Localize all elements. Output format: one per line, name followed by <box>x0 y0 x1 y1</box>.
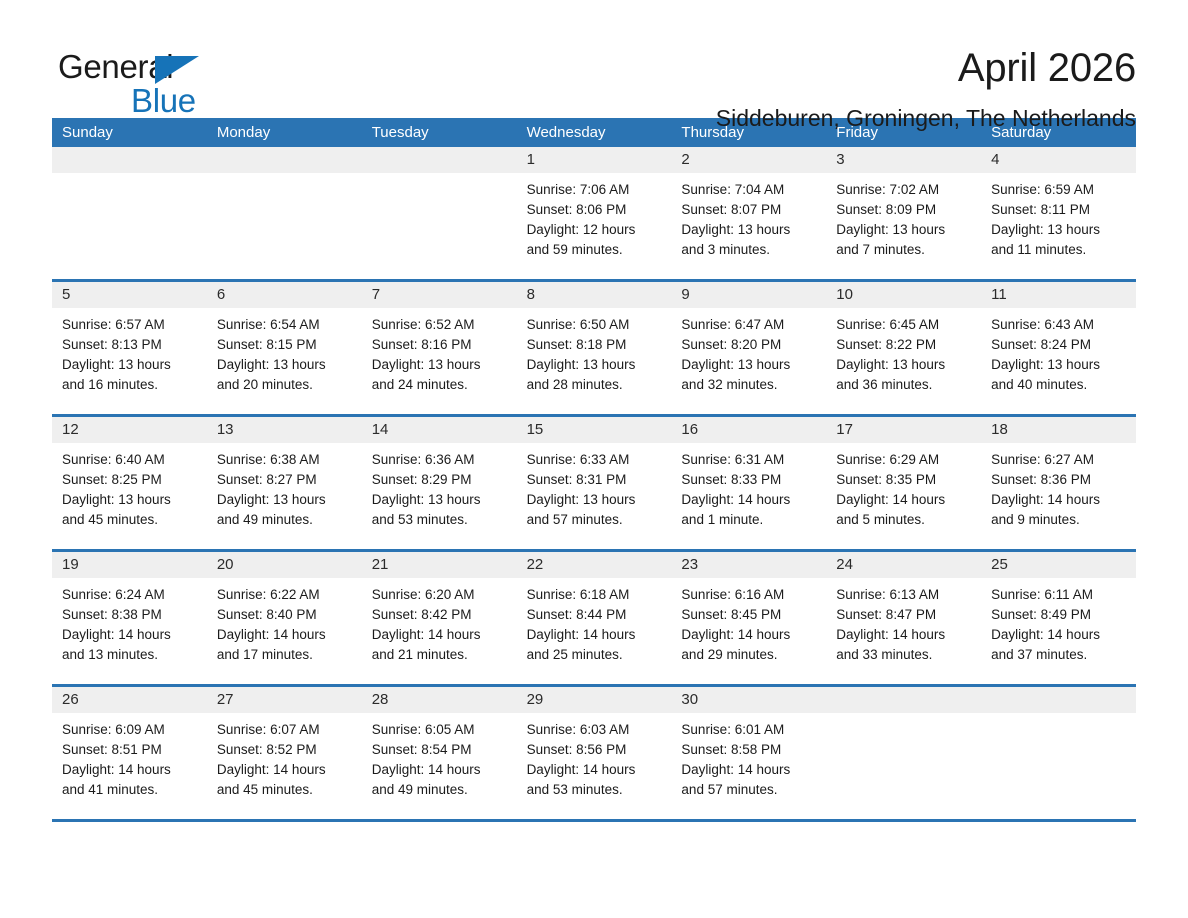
daylight-text-line1: Daylight: 14 hours <box>681 760 818 780</box>
day-cell[interactable]: 13Sunrise: 6:38 AMSunset: 8:27 PMDayligh… <box>207 417 362 549</box>
sunrise-text: Sunrise: 7:04 AM <box>681 180 818 200</box>
sunset-text: Sunset: 8:56 PM <box>527 740 664 760</box>
day-cell[interactable]: 15Sunrise: 6:33 AMSunset: 8:31 PMDayligh… <box>517 417 672 549</box>
sunrise-text: Sunrise: 6:27 AM <box>991 450 1128 470</box>
sunset-text: Sunset: 8:38 PM <box>62 605 199 625</box>
daylight-text-line1: Daylight: 13 hours <box>217 490 354 510</box>
daylight-text-line1: Daylight: 13 hours <box>991 220 1128 240</box>
daylight-text-line2: and 25 minutes. <box>527 645 664 665</box>
daylight-text-line1: Daylight: 13 hours <box>372 355 509 375</box>
daylight-text-line2: and 49 minutes. <box>217 510 354 530</box>
calendar-page: General Blue April 2026 Siddeburen, Gron… <box>0 0 1188 918</box>
day-number: 25 <box>981 552 1136 578</box>
daylight-text-line2: and 7 minutes. <box>836 240 973 260</box>
daylight-text-line2: and 37 minutes. <box>991 645 1128 665</box>
daylight-text-line1: Daylight: 14 hours <box>62 625 199 645</box>
day-number: 18 <box>981 417 1136 443</box>
daylight-text-line2: and 53 minutes. <box>527 780 664 800</box>
day-cell-empty <box>207 147 362 279</box>
sunrise-text: Sunrise: 6:50 AM <box>527 315 664 335</box>
sunrise-text: Sunrise: 6:01 AM <box>681 720 818 740</box>
day-details: Sunrise: 6:50 AMSunset: 8:18 PMDaylight:… <box>517 308 672 395</box>
daylight-text-line2: and 49 minutes. <box>372 780 509 800</box>
daylight-text-line1: Daylight: 12 hours <box>527 220 664 240</box>
calendar-week-row: 1Sunrise: 7:06 AMSunset: 8:06 PMDaylight… <box>52 147 1136 279</box>
daylight-text-line1: Daylight: 13 hours <box>372 490 509 510</box>
daylight-text-line2: and 57 minutes. <box>681 780 818 800</box>
sunrise-text: Sunrise: 6:22 AM <box>217 585 354 605</box>
day-number: 12 <box>52 417 207 443</box>
sunrise-text: Sunrise: 6:20 AM <box>372 585 509 605</box>
sunset-text: Sunset: 8:29 PM <box>372 470 509 490</box>
day-details: Sunrise: 6:57 AMSunset: 8:13 PMDaylight:… <box>52 308 207 395</box>
sunset-text: Sunset: 8:20 PM <box>681 335 818 355</box>
day-details: Sunrise: 6:36 AMSunset: 8:29 PMDaylight:… <box>362 443 517 530</box>
triangle-icon <box>155 56 199 84</box>
day-number: 11 <box>981 282 1136 308</box>
daylight-text-line1: Daylight: 14 hours <box>527 760 664 780</box>
day-number: 21 <box>362 552 517 578</box>
sunrise-text: Sunrise: 6:03 AM <box>527 720 664 740</box>
day-cell-empty <box>826 687 981 819</box>
sunset-text: Sunset: 8:16 PM <box>372 335 509 355</box>
day-number <box>981 687 1136 713</box>
day-details: Sunrise: 6:52 AMSunset: 8:16 PMDaylight:… <box>362 308 517 395</box>
day-number: 3 <box>826 147 981 173</box>
daylight-text-line1: Daylight: 14 hours <box>527 625 664 645</box>
sunset-text: Sunset: 8:49 PM <box>991 605 1128 625</box>
logo-line-one: General <box>58 50 258 86</box>
daylight-text-line1: Daylight: 14 hours <box>991 625 1128 645</box>
day-number: 28 <box>362 687 517 713</box>
calendar-week-row: 12Sunrise: 6:40 AMSunset: 8:25 PMDayligh… <box>52 414 1136 549</box>
day-number <box>52 147 207 173</box>
day-cell-empty <box>52 147 207 279</box>
sunset-text: Sunset: 8:25 PM <box>62 470 199 490</box>
day-cell-empty <box>362 147 517 279</box>
sunset-text: Sunset: 8:44 PM <box>527 605 664 625</box>
sunset-text: Sunset: 8:47 PM <box>836 605 973 625</box>
day-cell[interactable]: 12Sunrise: 6:40 AMSunset: 8:25 PMDayligh… <box>52 417 207 549</box>
day-number <box>207 147 362 173</box>
sunrise-text: Sunrise: 6:47 AM <box>681 315 818 335</box>
sunrise-text: Sunrise: 6:52 AM <box>372 315 509 335</box>
daylight-text-line1: Daylight: 14 hours <box>372 760 509 780</box>
daylight-text-line1: Daylight: 13 hours <box>62 490 199 510</box>
sunset-text: Sunset: 8:35 PM <box>836 470 973 490</box>
day-cell[interactable]: 9Sunrise: 6:47 AMSunset: 8:20 PMDaylight… <box>671 282 826 414</box>
sunrise-text: Sunrise: 6:57 AM <box>62 315 199 335</box>
sunset-text: Sunset: 8:33 PM <box>681 470 818 490</box>
sunset-text: Sunset: 8:15 PM <box>217 335 354 355</box>
day-cell[interactable]: 16Sunrise: 6:31 AMSunset: 8:33 PMDayligh… <box>671 417 826 549</box>
day-details: Sunrise: 6:45 AMSunset: 8:22 PMDaylight:… <box>826 308 981 395</box>
calendar-grid: SundayMondayTuesdayWednesdayThursdayFrid… <box>52 118 1136 819</box>
sunrise-text: Sunrise: 6:29 AM <box>836 450 973 470</box>
sunrise-text: Sunrise: 6:16 AM <box>681 585 818 605</box>
day-details: Sunrise: 6:33 AMSunset: 8:31 PMDaylight:… <box>517 443 672 530</box>
daylight-text-line1: Daylight: 14 hours <box>217 760 354 780</box>
day-details: Sunrise: 6:54 AMSunset: 8:15 PMDaylight:… <box>207 308 362 395</box>
day-details: Sunrise: 6:20 AMSunset: 8:42 PMDaylight:… <box>362 578 517 665</box>
sunrise-text: Sunrise: 7:02 AM <box>836 180 973 200</box>
day-number: 22 <box>517 552 672 578</box>
daylight-text-line2: and 53 minutes. <box>372 510 509 530</box>
sunrise-text: Sunrise: 6:33 AM <box>527 450 664 470</box>
day-number: 30 <box>671 687 826 713</box>
sunrise-text: Sunrise: 6:45 AM <box>836 315 973 335</box>
daylight-text-line1: Daylight: 13 hours <box>62 355 199 375</box>
daylight-text-line2: and 13 minutes. <box>62 645 199 665</box>
daylight-text-line1: Daylight: 13 hours <box>991 355 1128 375</box>
sunrise-text: Sunrise: 6:07 AM <box>217 720 354 740</box>
sunset-text: Sunset: 8:07 PM <box>681 200 818 220</box>
sunset-text: Sunset: 8:27 PM <box>217 470 354 490</box>
calendar-week-row: 26Sunrise: 6:09 AMSunset: 8:51 PMDayligh… <box>52 684 1136 819</box>
daylight-text-line1: Daylight: 13 hours <box>681 355 818 375</box>
page-subtitle: Siddeburen, Groningen, The Netherlands <box>716 104 1136 132</box>
daylight-text-line2: and 33 minutes. <box>836 645 973 665</box>
daylight-text-line2: and 36 minutes. <box>836 375 973 395</box>
day-number: 4 <box>981 147 1136 173</box>
day-details: Sunrise: 6:29 AMSunset: 8:35 PMDaylight:… <box>826 443 981 530</box>
day-number: 15 <box>517 417 672 443</box>
sunset-text: Sunset: 8:24 PM <box>991 335 1128 355</box>
day-cell[interactable]: 28Sunrise: 6:05 AMSunset: 8:54 PMDayligh… <box>362 687 517 819</box>
day-cell[interactable]: 24Sunrise: 6:13 AMSunset: 8:47 PMDayligh… <box>826 552 981 684</box>
day-cell[interactable]: 25Sunrise: 6:11 AMSunset: 8:49 PMDayligh… <box>981 552 1136 684</box>
daylight-text-line2: and 9 minutes. <box>991 510 1128 530</box>
weekday-header-monday: Monday <box>207 118 362 147</box>
daylight-text-line2: and 45 minutes. <box>217 780 354 800</box>
weekday-header-sunday: Sunday <box>52 118 207 147</box>
daylight-text-line1: Daylight: 14 hours <box>836 490 973 510</box>
day-cell[interactable]: 27Sunrise: 6:07 AMSunset: 8:52 PMDayligh… <box>207 687 362 819</box>
daylight-text-line1: Daylight: 13 hours <box>527 355 664 375</box>
day-cell[interactable]: 26Sunrise: 6:09 AMSunset: 8:51 PMDayligh… <box>52 687 207 819</box>
daylight-text-line1: Daylight: 14 hours <box>62 760 199 780</box>
sunset-text: Sunset: 8:31 PM <box>527 470 664 490</box>
day-number: 26 <box>52 687 207 713</box>
day-cell[interactable]: 29Sunrise: 6:03 AMSunset: 8:56 PMDayligh… <box>517 687 672 819</box>
day-details: Sunrise: 6:22 AMSunset: 8:40 PMDaylight:… <box>207 578 362 665</box>
calendar-week-row: 19Sunrise: 6:24 AMSunset: 8:38 PMDayligh… <box>52 549 1136 684</box>
sunrise-text: Sunrise: 6:31 AM <box>681 450 818 470</box>
daylight-text-line2: and 20 minutes. <box>217 375 354 395</box>
sunset-text: Sunset: 8:58 PM <box>681 740 818 760</box>
day-details: Sunrise: 6:24 AMSunset: 8:38 PMDaylight:… <box>52 578 207 665</box>
daylight-text-line2: and 21 minutes. <box>372 645 509 665</box>
day-cell[interactable]: 23Sunrise: 6:16 AMSunset: 8:45 PMDayligh… <box>671 552 826 684</box>
sunrise-text: Sunrise: 6:59 AM <box>991 180 1128 200</box>
daylight-text-line1: Daylight: 13 hours <box>681 220 818 240</box>
daylight-text-line1: Daylight: 13 hours <box>527 490 664 510</box>
sunrise-text: Sunrise: 7:06 AM <box>527 180 664 200</box>
sunset-text: Sunset: 8:13 PM <box>62 335 199 355</box>
day-number: 20 <box>207 552 362 578</box>
sunset-text: Sunset: 8:18 PM <box>527 335 664 355</box>
daylight-text-line1: Daylight: 13 hours <box>217 355 354 375</box>
day-cell[interactable]: 3Sunrise: 7:02 AMSunset: 8:09 PMDaylight… <box>826 147 981 279</box>
day-details: Sunrise: 7:04 AMSunset: 8:07 PMDaylight:… <box>671 173 826 260</box>
daylight-text-line1: Daylight: 14 hours <box>372 625 509 645</box>
day-cell[interactable]: 22Sunrise: 6:18 AMSunset: 8:44 PMDayligh… <box>517 552 672 684</box>
sunrise-text: Sunrise: 6:24 AM <box>62 585 199 605</box>
calendar-week-row: 5Sunrise: 6:57 AMSunset: 8:13 PMDaylight… <box>52 279 1136 414</box>
day-details: Sunrise: 6:31 AMSunset: 8:33 PMDaylight:… <box>671 443 826 530</box>
day-number: 19 <box>52 552 207 578</box>
day-details: Sunrise: 7:06 AMSunset: 8:06 PMDaylight:… <box>517 173 672 260</box>
daylight-text-line1: Daylight: 14 hours <box>217 625 354 645</box>
daylight-text-line2: and 17 minutes. <box>217 645 354 665</box>
day-cell[interactable]: 14Sunrise: 6:36 AMSunset: 8:29 PMDayligh… <box>362 417 517 549</box>
sunset-text: Sunset: 8:45 PM <box>681 605 818 625</box>
daylight-text-line1: Daylight: 14 hours <box>991 490 1128 510</box>
day-cell[interactable]: 8Sunrise: 6:50 AMSunset: 8:18 PMDaylight… <box>517 282 672 414</box>
daylight-text-line2: and 1 minute. <box>681 510 818 530</box>
sunset-text: Sunset: 8:52 PM <box>217 740 354 760</box>
day-details: Sunrise: 6:40 AMSunset: 8:25 PMDaylight:… <box>52 443 207 530</box>
day-details: Sunrise: 6:09 AMSunset: 8:51 PMDaylight:… <box>52 713 207 800</box>
day-number: 13 <box>207 417 362 443</box>
daylight-text-line1: Daylight: 14 hours <box>681 625 818 645</box>
day-number: 9 <box>671 282 826 308</box>
daylight-text-line2: and 57 minutes. <box>527 510 664 530</box>
day-number: 17 <box>826 417 981 443</box>
daylight-text-line2: and 28 minutes. <box>527 375 664 395</box>
day-details: Sunrise: 6:47 AMSunset: 8:20 PMDaylight:… <box>671 308 826 395</box>
daylight-text-line2: and 29 minutes. <box>681 645 818 665</box>
day-cell-empty <box>981 687 1136 819</box>
sunset-text: Sunset: 8:54 PM <box>372 740 509 760</box>
day-number <box>362 147 517 173</box>
sunset-text: Sunset: 8:09 PM <box>836 200 973 220</box>
daylight-text-line2: and 41 minutes. <box>62 780 199 800</box>
day-cell[interactable]: 7Sunrise: 6:52 AMSunset: 8:16 PMDaylight… <box>362 282 517 414</box>
calendar-weeks: 1Sunrise: 7:06 AMSunset: 8:06 PMDaylight… <box>52 147 1136 819</box>
day-cell[interactable]: 4Sunrise: 6:59 AMSunset: 8:11 PMDaylight… <box>981 147 1136 279</box>
day-number: 27 <box>207 687 362 713</box>
daylight-text-line2: and 40 minutes. <box>991 375 1128 395</box>
sunset-text: Sunset: 8:06 PM <box>527 200 664 220</box>
daylight-text-line2: and 11 minutes. <box>991 240 1128 260</box>
day-details: Sunrise: 7:02 AMSunset: 8:09 PMDaylight:… <box>826 173 981 260</box>
sunrise-text: Sunrise: 6:54 AM <box>217 315 354 335</box>
day-details: Sunrise: 6:38 AMSunset: 8:27 PMDaylight:… <box>207 443 362 530</box>
sunrise-text: Sunrise: 6:40 AM <box>62 450 199 470</box>
sunset-text: Sunset: 8:40 PM <box>217 605 354 625</box>
day-number: 7 <box>362 282 517 308</box>
day-cell[interactable]: 6Sunrise: 6:54 AMSunset: 8:15 PMDaylight… <box>207 282 362 414</box>
sunset-text: Sunset: 8:11 PM <box>991 200 1128 220</box>
day-cell[interactable]: 2Sunrise: 7:04 AMSunset: 8:07 PMDaylight… <box>671 147 826 279</box>
day-cell[interactable]: 10Sunrise: 6:45 AMSunset: 8:22 PMDayligh… <box>826 282 981 414</box>
day-details: Sunrise: 6:03 AMSunset: 8:56 PMDaylight:… <box>517 713 672 800</box>
day-details: Sunrise: 6:43 AMSunset: 8:24 PMDaylight:… <box>981 308 1136 395</box>
calendar-bottom-rule <box>52 819 1136 822</box>
daylight-text-line2: and 3 minutes. <box>681 240 818 260</box>
logo-text-blue: Blue <box>131 82 196 119</box>
daylight-text-line2: and 24 minutes. <box>372 375 509 395</box>
daylight-text-line1: Daylight: 14 hours <box>681 490 818 510</box>
sunrise-text: Sunrise: 6:13 AM <box>836 585 973 605</box>
sunrise-text: Sunrise: 6:11 AM <box>991 585 1128 605</box>
sunrise-text: Sunrise: 6:05 AM <box>372 720 509 740</box>
sunrise-text: Sunrise: 6:36 AM <box>372 450 509 470</box>
day-details: Sunrise: 6:05 AMSunset: 8:54 PMDaylight:… <box>362 713 517 800</box>
day-number: 10 <box>826 282 981 308</box>
masthead: General Blue April 2026 Siddeburen, Gron… <box>0 0 1188 118</box>
day-cell[interactable]: 5Sunrise: 6:57 AMSunset: 8:13 PMDaylight… <box>52 282 207 414</box>
day-number: 6 <box>207 282 362 308</box>
daylight-text-line2: and 59 minutes. <box>527 240 664 260</box>
day-number: 14 <box>362 417 517 443</box>
day-details: Sunrise: 6:59 AMSunset: 8:11 PMDaylight:… <box>981 173 1136 260</box>
day-number: 8 <box>517 282 672 308</box>
day-details: Sunrise: 6:27 AMSunset: 8:36 PMDaylight:… <box>981 443 1136 530</box>
day-details: Sunrise: 6:16 AMSunset: 8:45 PMDaylight:… <box>671 578 826 665</box>
day-number <box>826 687 981 713</box>
day-number: 1 <box>517 147 672 173</box>
daylight-text-line2: and 45 minutes. <box>62 510 199 530</box>
sunset-text: Sunset: 8:51 PM <box>62 740 199 760</box>
generalblue-logo[interactable]: General Blue <box>58 50 258 116</box>
daylight-text-line2: and 32 minutes. <box>681 375 818 395</box>
day-cell[interactable]: 1Sunrise: 7:06 AMSunset: 8:06 PMDaylight… <box>517 147 672 279</box>
day-cell[interactable]: 18Sunrise: 6:27 AMSunset: 8:36 PMDayligh… <box>981 417 1136 549</box>
daylight-text-line2: and 16 minutes. <box>62 375 199 395</box>
page-title: April 2026 <box>716 44 1136 92</box>
logo-line-two: Blue <box>131 84 258 117</box>
day-number: 23 <box>671 552 826 578</box>
day-details: Sunrise: 6:18 AMSunset: 8:44 PMDaylight:… <box>517 578 672 665</box>
day-details: Sunrise: 6:07 AMSunset: 8:52 PMDaylight:… <box>207 713 362 800</box>
daylight-text-line1: Daylight: 13 hours <box>836 355 973 375</box>
sunrise-text: Sunrise: 6:09 AM <box>62 720 199 740</box>
weekday-header-wednesday: Wednesday <box>517 118 672 147</box>
day-details: Sunrise: 6:13 AMSunset: 8:47 PMDaylight:… <box>826 578 981 665</box>
sunrise-text: Sunrise: 6:38 AM <box>217 450 354 470</box>
day-number: 29 <box>517 687 672 713</box>
sunset-text: Sunset: 8:42 PM <box>372 605 509 625</box>
sunset-text: Sunset: 8:22 PM <box>836 335 973 355</box>
daylight-text-line1: Daylight: 13 hours <box>836 220 973 240</box>
daylight-text-line1: Daylight: 14 hours <box>836 625 973 645</box>
day-details: Sunrise: 6:11 AMSunset: 8:49 PMDaylight:… <box>981 578 1136 665</box>
day-cell[interactable]: 30Sunrise: 6:01 AMSunset: 8:58 PMDayligh… <box>671 687 826 819</box>
sunset-text: Sunset: 8:36 PM <box>991 470 1128 490</box>
day-details: Sunrise: 6:01 AMSunset: 8:58 PMDaylight:… <box>671 713 826 800</box>
weekday-header-tuesday: Tuesday <box>362 118 517 147</box>
sunrise-text: Sunrise: 6:18 AM <box>527 585 664 605</box>
day-cell[interactable]: 21Sunrise: 6:20 AMSunset: 8:42 PMDayligh… <box>362 552 517 684</box>
day-number: 5 <box>52 282 207 308</box>
sunrise-text: Sunrise: 6:43 AM <box>991 315 1128 335</box>
day-number: 16 <box>671 417 826 443</box>
daylight-text-line2: and 5 minutes. <box>836 510 973 530</box>
day-number: 2 <box>671 147 826 173</box>
day-cell[interactable]: 19Sunrise: 6:24 AMSunset: 8:38 PMDayligh… <box>52 552 207 684</box>
day-number: 24 <box>826 552 981 578</box>
title-block: April 2026 Siddeburen, Groningen, The Ne… <box>716 44 1136 132</box>
day-cell[interactable]: 11Sunrise: 6:43 AMSunset: 8:24 PMDayligh… <box>981 282 1136 414</box>
day-cell[interactable]: 20Sunrise: 6:22 AMSunset: 8:40 PMDayligh… <box>207 552 362 684</box>
day-cell[interactable]: 17Sunrise: 6:29 AMSunset: 8:35 PMDayligh… <box>826 417 981 549</box>
